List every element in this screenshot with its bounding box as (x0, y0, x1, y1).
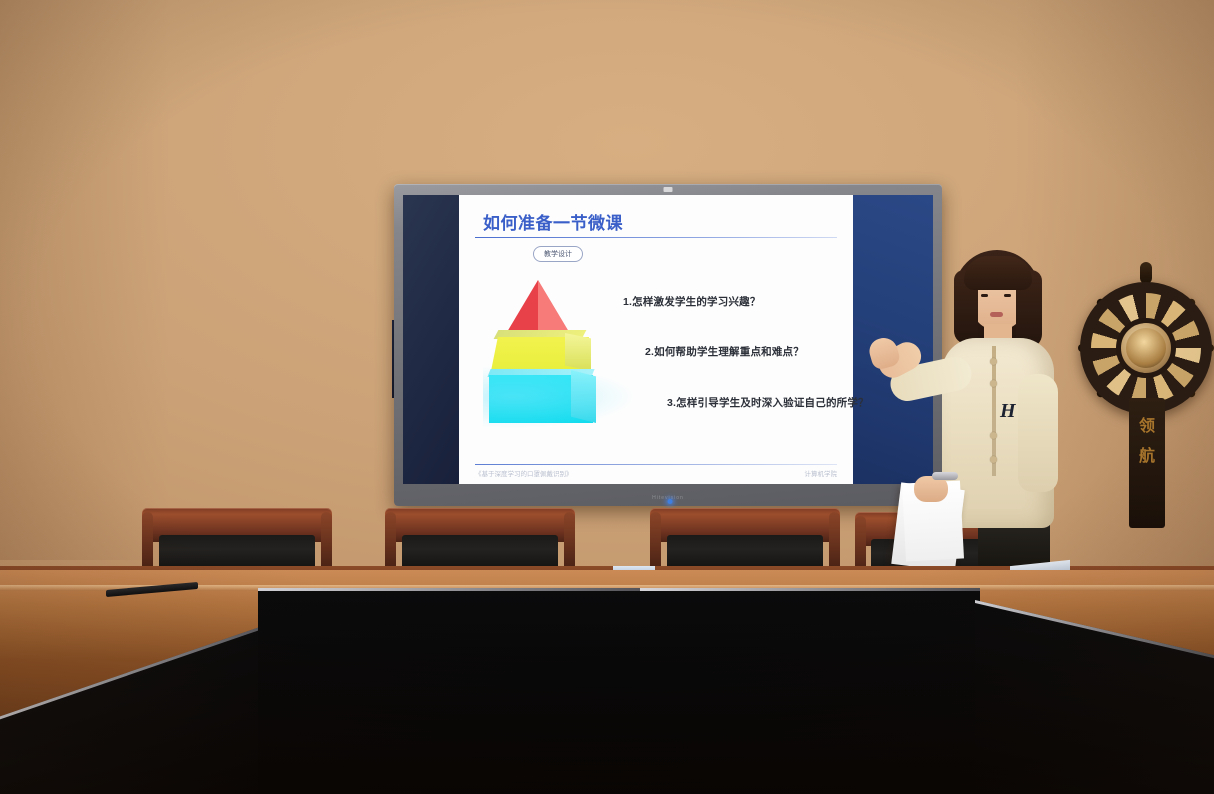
table-monitor-panel[interactable] (640, 588, 980, 794)
presenter-arm-right (1018, 374, 1058, 492)
table-monitor-panel[interactable] (258, 588, 648, 794)
presenter: H (880, 250, 1080, 590)
presenter-eye-left (981, 294, 988, 297)
conference-room: 如何准备一节微课 教学设计 (0, 0, 1214, 794)
camera-icon (664, 187, 673, 192)
three-tier-pyramid-graphic (489, 280, 597, 426)
wheel-character-1: 领 (1129, 412, 1165, 436)
slide-body: 1.怎样激发学生的学习兴趣？ 2.如何帮助学生理解重点和难点？ 3.怎样引导学生… (475, 278, 837, 428)
cardigan-button (990, 432, 997, 439)
presenter-mouth (990, 312, 1003, 317)
pyramid-tier-top-highlight (538, 280, 569, 332)
title-underline (475, 237, 837, 238)
cardigan-button (990, 358, 997, 365)
slide-bullet-3: 3.怎样引导学生及时深入验证自己的所学？ (667, 395, 869, 410)
ships-wheel-ornament: 领 航 (1076, 258, 1214, 458)
slide-badge-container: 教学设计 (475, 243, 837, 262)
wheel-spoke-knob (1140, 262, 1152, 284)
slide-badge: 教学设计 (533, 246, 583, 262)
footer-topic: 《基于深度学习的口罩佩戴识别》 (475, 468, 573, 478)
wheel-hub-medallion (1126, 328, 1166, 368)
display-bezel: 如何准备一节微课 教学设计 (394, 184, 942, 506)
cardigan-button (990, 380, 997, 387)
footer-rule (475, 464, 837, 465)
cardigan-logo: H (1000, 400, 1016, 423)
cardigan-button (990, 456, 997, 463)
letterbox-left (403, 195, 459, 484)
pyramid-tier-middle-side (565, 333, 591, 371)
power-led-icon (668, 499, 673, 504)
display-screen[interactable]: 如何准备一节微课 教学设计 (403, 195, 933, 484)
panel-edge (640, 588, 980, 591)
presentation-slide: 如何准备一节微课 教学设计 (459, 195, 853, 484)
slide-bullet-2: 2.如何帮助学生理解重点和难点？ (645, 344, 804, 359)
slide-title: 如何准备一节微课 (483, 209, 837, 234)
wheel-character-2: 航 (1129, 442, 1165, 466)
pyramid-tier-base-side (571, 370, 596, 423)
interactive-display[interactable]: 如何准备一节微课 教学设计 (394, 184, 942, 506)
footer-department: 计算机学院 (805, 468, 838, 478)
wall-shadow-left (0, 0, 170, 560)
panel-edge (258, 588, 648, 591)
presenter-hair-fringe (964, 256, 1032, 290)
slide-bullet-1: 1.怎样激发学生的学习兴趣？ (623, 294, 761, 309)
wheel-post: 领 航 (1129, 398, 1165, 528)
footer-row: 《基于深度学习的口罩佩戴识别》 计算机学院 (475, 468, 837, 478)
presenter-bracelet (932, 472, 958, 480)
presenter-eye-right (1004, 294, 1011, 297)
slide-footer: 《基于深度学习的口罩佩戴识别》 计算机学院 (475, 464, 837, 478)
